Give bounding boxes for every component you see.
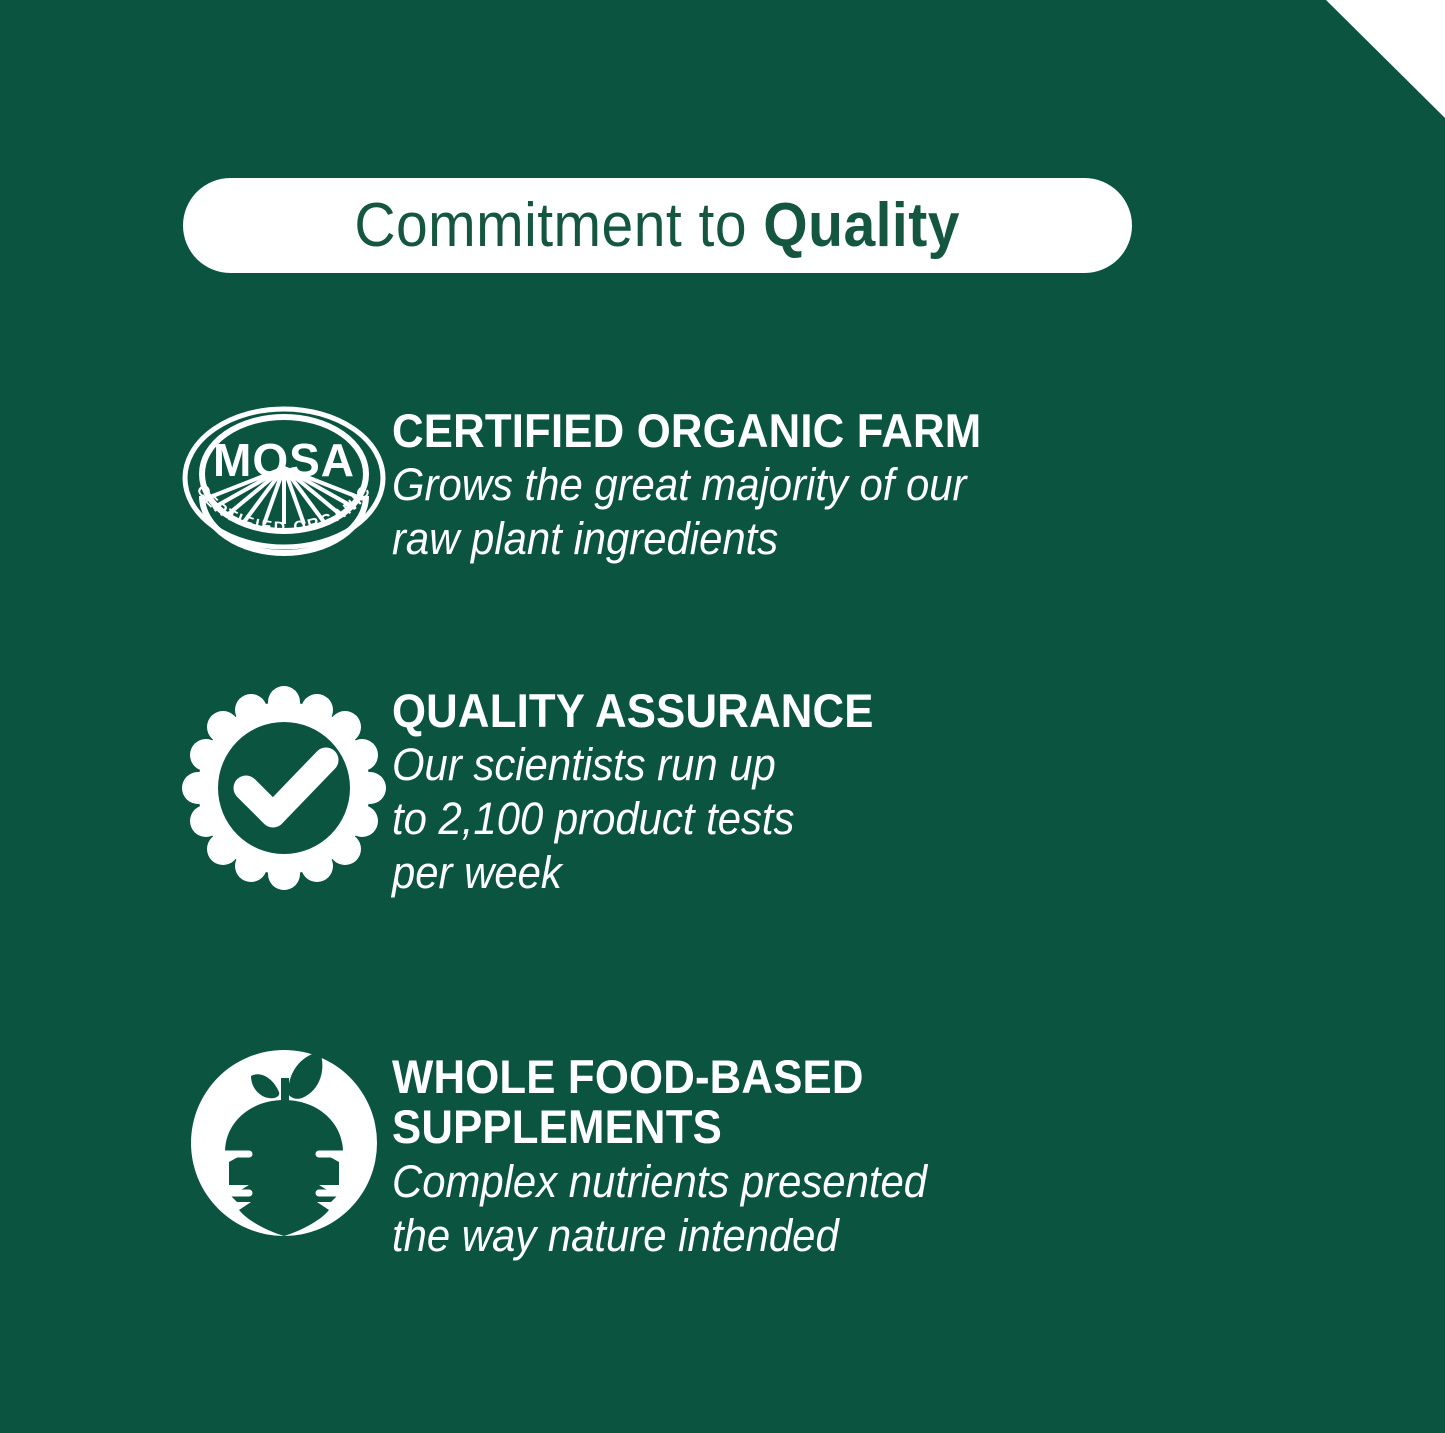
feature-text-cell: WHOLE FOOD-BASED SUPPLEMENTS Complex nut… — [392, 1050, 967, 1263]
feature-text-cell: QUALITY ASSURANCE Our scientists run up … — [392, 684, 910, 900]
page-title-pill: Commitment to Quality — [183, 178, 1132, 273]
feature-text-cell: CERTIFIED ORGANIC FARM Grows the great m… — [392, 404, 1026, 566]
feature-icon-cell: MOSA CERTIFIED ORGANIC — [176, 404, 392, 567]
feature-title: QUALITY ASSURANCE — [392, 686, 874, 736]
feature-title: WHOLE FOOD-BASED SUPPLEMENTS — [392, 1052, 927, 1153]
feature-quality-assurance: QUALITY ASSURANCE Our scientists run up … — [176, 684, 910, 900]
page-title: Commitment to Quality — [355, 195, 961, 257]
feature-icon-cell — [176, 684, 392, 897]
feature-description: Our scientists run up to 2,100 product t… — [392, 738, 874, 900]
svg-text:MOSA: MOSA — [213, 434, 355, 486]
page-title-plain: Commitment to — [355, 191, 764, 260]
feature-whole-food-based-supplements: WHOLE FOOD-BASED SUPPLEMENTS Complex nut… — [176, 1050, 967, 1263]
quality-check-badge-icon — [180, 684, 388, 897]
feature-certified-organic-farm: MOSA CERTIFIED ORGANIC CERTIFIED ORGANIC… — [176, 404, 1026, 567]
mosa-certified-organic-seal-icon: MOSA CERTIFIED ORGANIC — [180, 404, 388, 567]
beet-whole-food-icon — [189, 1050, 379, 1241]
feature-description: Complex nutrients presented the way natu… — [392, 1155, 927, 1263]
feature-description: Grows the great majority of our raw plan… — [392, 458, 981, 566]
feature-title: CERTIFIED ORGANIC FARM — [392, 406, 981, 456]
commitment-to-quality-panel: Commitment to Quality — [0, 0, 1445, 1433]
page-title-emphasis: Quality — [764, 191, 961, 260]
feature-icon-cell — [176, 1050, 392, 1241]
